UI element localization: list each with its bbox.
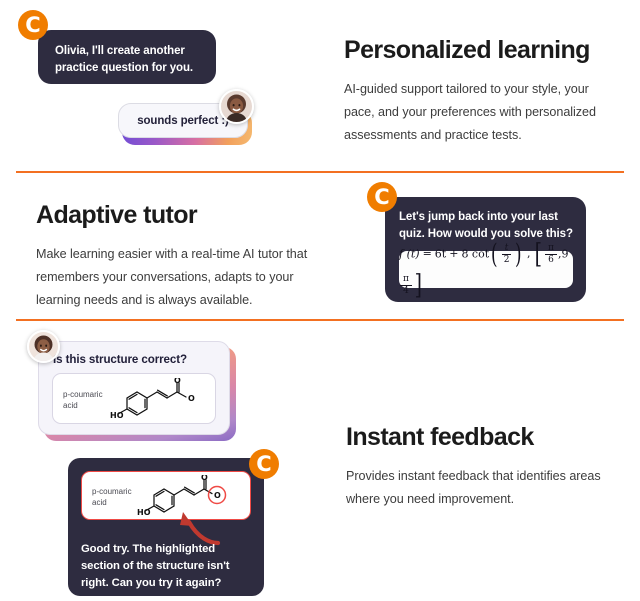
section-heading: Adaptive tutor bbox=[36, 201, 320, 230]
interval-b-denominator: 4 bbox=[400, 286, 412, 296]
interval-b-coefficient: 9 bbox=[561, 247, 568, 260]
formula-arg-numerator: t bbox=[502, 244, 512, 255]
assistant-feedback-card: p-coumaric acid bbox=[68, 458, 264, 596]
user-avatar bbox=[219, 89, 254, 124]
p-coumaric-acid-structure-svg: HO O O bbox=[105, 378, 215, 422]
formula-term1: 6t bbox=[435, 247, 446, 260]
personalized-learning-text-block: Personalized learning AI-guided support … bbox=[344, 36, 618, 148]
assistant-avatar-badge-icon: C bbox=[367, 182, 397, 212]
badge-letter: C bbox=[25, 15, 40, 36]
feature-highlights-page: C Olivia, I'll create another practice q… bbox=[0, 0, 640, 601]
user-structure-card: Is this structure correct? p-coumaric ac… bbox=[38, 341, 230, 435]
oxygen-side-label: O bbox=[188, 394, 195, 403]
section-divider bbox=[16, 171, 624, 173]
section-heading: Personalized learning bbox=[344, 36, 618, 65]
assistant-feedback-text: Good try. The highlighted section of the… bbox=[81, 541, 253, 592]
formula-equals: = bbox=[423, 247, 432, 260]
molecule-name-line1: p-coumaric bbox=[92, 487, 132, 496]
assistant-avatar-badge-icon: C bbox=[249, 449, 279, 479]
assistant-chat-bubble: Olivia, I'll create another practice que… bbox=[38, 30, 216, 84]
molecule-name-line1: p-coumaric bbox=[63, 390, 103, 399]
hydroxyl-label: HO bbox=[137, 508, 151, 517]
molecule-name-label: p-coumaric acid bbox=[63, 390, 103, 412]
oxygen-side-label: O bbox=[214, 491, 221, 500]
formula-argument-fraction: t2 bbox=[501, 244, 513, 265]
formula-comma: , bbox=[527, 247, 531, 260]
structure-question-text: Is this structure correct? bbox=[53, 353, 187, 366]
formula-lhs: f (t) bbox=[399, 247, 420, 260]
section-body: AI-guided support tailored to your style… bbox=[344, 78, 618, 148]
assistant-message-text: Let's jump back into your last quiz. How… bbox=[399, 209, 577, 242]
formula-interval-end: π4 bbox=[400, 275, 412, 296]
assistant-avatar-badge-icon: C bbox=[18, 10, 48, 40]
molecule-name-line2: acid bbox=[63, 401, 78, 410]
formula-interval-start: π6 bbox=[545, 244, 557, 265]
assistant-message-text: Olivia, I'll create another practice que… bbox=[55, 43, 203, 76]
molecule-diagram-box-flagged: p-coumaric acid bbox=[81, 471, 251, 520]
section-heading: Instant feedback bbox=[346, 423, 618, 452]
formula-term2: 8 cot bbox=[461, 247, 489, 260]
user-message-text: sounds perfect :) bbox=[137, 115, 229, 127]
assistant-chat-bubble: Let's jump back into your last quiz. How… bbox=[385, 197, 586, 302]
oxygen-top-label: O bbox=[174, 378, 181, 385]
formula-arg-denominator: 2 bbox=[501, 255, 513, 265]
formula-open-bracket: [ bbox=[535, 239, 542, 270]
molecule-name-line2: acid bbox=[92, 498, 107, 507]
section-body: Make learning easier with a real-time AI… bbox=[36, 243, 320, 313]
molecule-name-label: p-coumaric acid bbox=[92, 487, 132, 509]
hydroxyl-label: HO bbox=[110, 411, 124, 420]
formula-close-bracket: ] bbox=[415, 270, 422, 301]
oxygen-top-label: O bbox=[201, 475, 208, 482]
badge-letter: C bbox=[256, 454, 271, 475]
molecule-diagram-box: p-coumaric acid bbox=[52, 373, 216, 424]
section-divider bbox=[16, 319, 624, 321]
formula-plus: + bbox=[449, 247, 458, 260]
section-body: Provides instant feedback that identifie… bbox=[346, 465, 618, 512]
adaptive-tutor-text-block: Adaptive tutor Make learning easier with… bbox=[36, 201, 320, 313]
formula-open-paren: ( bbox=[491, 239, 498, 270]
interval-a-denominator: 6 bbox=[545, 255, 557, 265]
formula-card: f (t)=6t+8 cot(t2),[π6,9π4] bbox=[399, 251, 573, 288]
interval-b-numerator: π bbox=[400, 275, 412, 286]
formula-close-paren: ) bbox=[515, 239, 522, 270]
instant-feedback-text-block: Instant feedback Provides instant feedba… bbox=[346, 423, 618, 511]
user-avatar bbox=[27, 330, 60, 363]
interval-a-numerator: π bbox=[545, 244, 557, 255]
math-formula: f (t)=6t+8 cot(t2),[π6,9π4] bbox=[399, 239, 573, 301]
badge-letter: C bbox=[374, 187, 389, 208]
